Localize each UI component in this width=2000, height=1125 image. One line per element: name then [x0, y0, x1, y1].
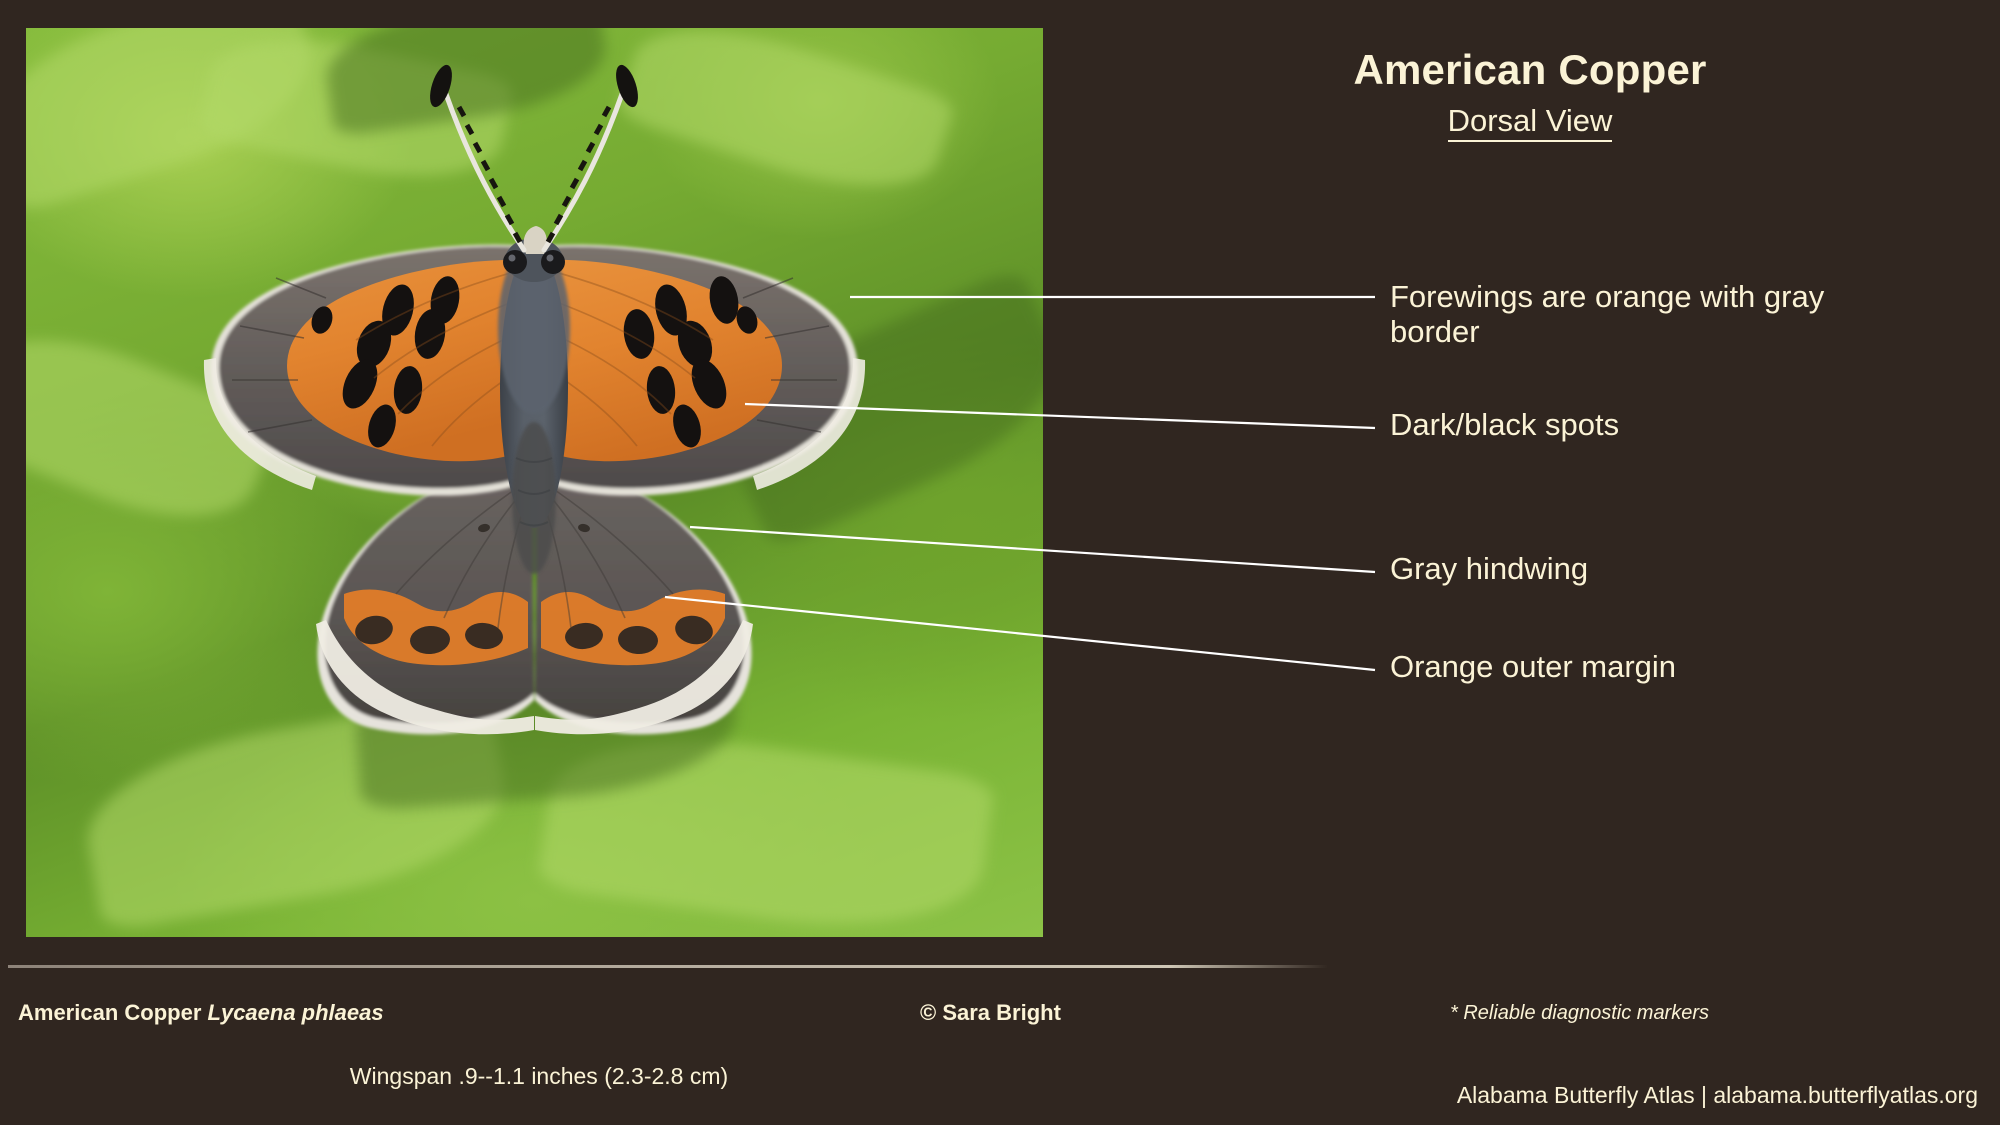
- annotation-label-black-spots: Dark/black spots: [1390, 408, 1860, 443]
- slide-canvas: American Copper Dorsal View Forewings ar…: [0, 0, 2000, 1125]
- atlas-attribution: Alabama Butterfly Atlas | alabama.butter…: [0, 1082, 1978, 1109]
- page-title: American Copper: [1100, 46, 1960, 94]
- photo-caption: American Copper Lycaena phlaeas: [18, 1000, 384, 1026]
- butterfly-illustration: [26, 28, 1043, 937]
- diagnostic-footnote: * Reliable diagnostic markers: [1450, 1002, 1709, 1025]
- page-subtitle-text: Dorsal View: [1448, 103, 1613, 142]
- caption-scientific-name: Lycaena phlaeas: [208, 1000, 384, 1025]
- butterfly-photo: [26, 28, 1043, 937]
- annotation-label-forewings: Forewings are orange with gray border: [1390, 280, 1860, 349]
- caption-common-name: American Copper: [18, 1000, 201, 1025]
- page-subtitle: Dorsal View: [1100, 103, 1960, 139]
- annotation-label-gray-hindwing: Gray hindwing: [1390, 552, 1860, 587]
- annotation-label-orange-margin: Orange outer margin: [1390, 650, 1860, 685]
- photo-credit: © Sara Bright: [920, 1000, 1061, 1026]
- caption-divider: [8, 965, 1328, 968]
